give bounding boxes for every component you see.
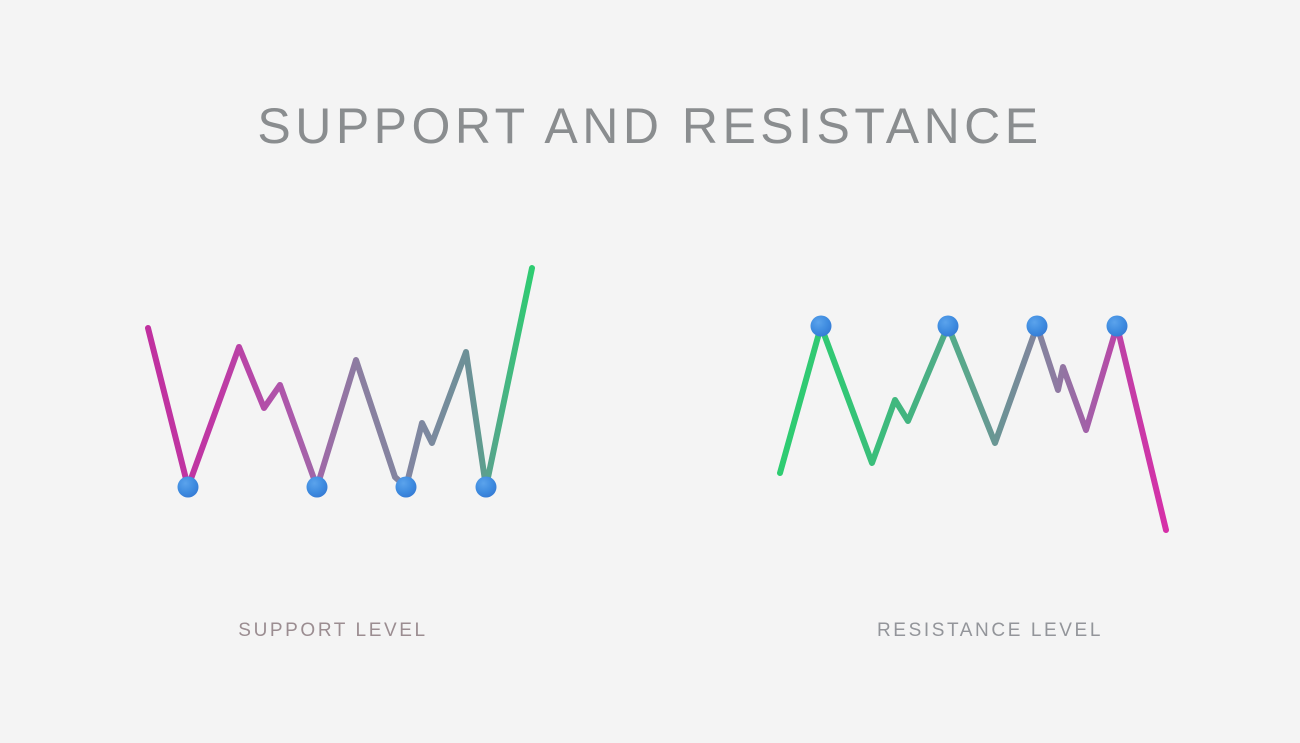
support-level-caption: SUPPORT LEVEL [103, 620, 563, 642]
resistance-touch-point-3 [1027, 316, 1048, 337]
resistance-panel [723, 316, 1205, 531]
resistance-touch-point-1 [811, 316, 832, 337]
diagram-canvas: SUPPORT AND RESISTANCE [0, 0, 1300, 743]
support-touch-point-2 [307, 477, 328, 498]
resistance-touch-point-4 [1107, 316, 1128, 337]
resistance-level-caption: RESISTANCE LEVEL [760, 620, 1220, 642]
support-panel [92, 268, 575, 498]
support-touch-point-3 [396, 477, 417, 498]
support-touch-point-1 [178, 477, 199, 498]
support-touch-point-4 [476, 477, 497, 498]
resistance-touch-point-2 [938, 316, 959, 337]
support-price-line [148, 268, 532, 487]
resistance-price-line [780, 326, 1166, 530]
